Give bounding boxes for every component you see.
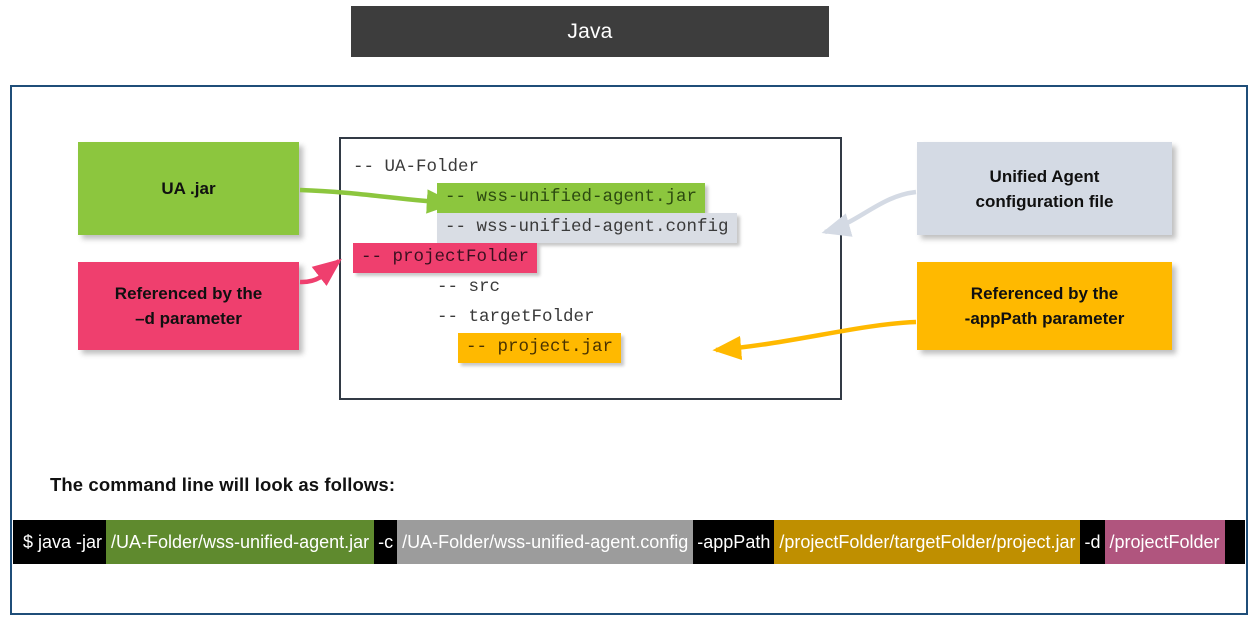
callout-d-parameter-label: Referenced by the –d parameter [115,281,262,331]
callout-config-file: Unified Agent configuration file [917,142,1172,235]
tree-row: -- src [353,272,737,302]
command-segment: -d [1080,520,1104,564]
tree-row: -- targetFolder [353,302,737,332]
tree-row-indent [353,307,437,327]
tree-row: -- wss-unified-agent.config [353,212,737,242]
tree-row: -- UA-Folder [353,152,737,182]
command-segment: -appPath [693,520,774,564]
callout-apppath-parameter: Referenced by the -appPath parameter [917,262,1172,350]
page-title-banner: Java [351,6,829,57]
command-line-caption: The command line will look as follows: [50,474,395,496]
tree-row-indent [353,337,458,357]
command-segment: $ java -jar [13,520,106,564]
command-segment: /projectFolder/targetFolder/project.jar [774,520,1080,564]
tree-row: -- project.jar [353,332,737,362]
tree-row: -- wss-unified-agent.jar [353,182,737,212]
command-segment: /UA-Folder/wss-unified-agent.jar [106,520,374,564]
command-segment: /projectFolder [1105,520,1225,564]
tree-row-indent [353,187,437,207]
callout-ua-jar: UA .jar [78,142,299,235]
page-title: Java [567,20,612,44]
tree-row-label: -- UA-Folder [353,157,479,177]
callout-apppath-parameter-label: Referenced by the -appPath parameter [965,281,1125,331]
folder-tree-box: -- UA-Folder -- wss-unified-agent.jar --… [339,137,842,400]
callout-d-parameter: Referenced by the –d parameter [78,262,299,350]
tree-row-indent [353,277,437,297]
command-line-bar: $ java -jar/UA-Folder/wss-unified-agent.… [13,520,1245,564]
tree-row-label: -- targetFolder [437,307,595,327]
tree-row-label: -- projectFolder [353,243,537,273]
tree-row-label: -- wss-unified-agent.jar [437,183,705,213]
folder-tree-lines: -- UA-Folder -- wss-unified-agent.jar --… [353,152,737,362]
callout-ua-jar-label: UA .jar [161,176,215,201]
tree-row-label: -- wss-unified-agent.config [437,213,737,243]
command-segment: -c [374,520,397,564]
tree-row: -- projectFolder [353,242,737,272]
tree-row-label: -- project.jar [458,333,621,363]
callout-config-file-label: Unified Agent configuration file [976,164,1114,214]
tree-row-label: -- src [437,277,500,297]
tree-row-indent [353,217,437,237]
command-segment: /UA-Folder/wss-unified-agent.config [397,520,693,564]
